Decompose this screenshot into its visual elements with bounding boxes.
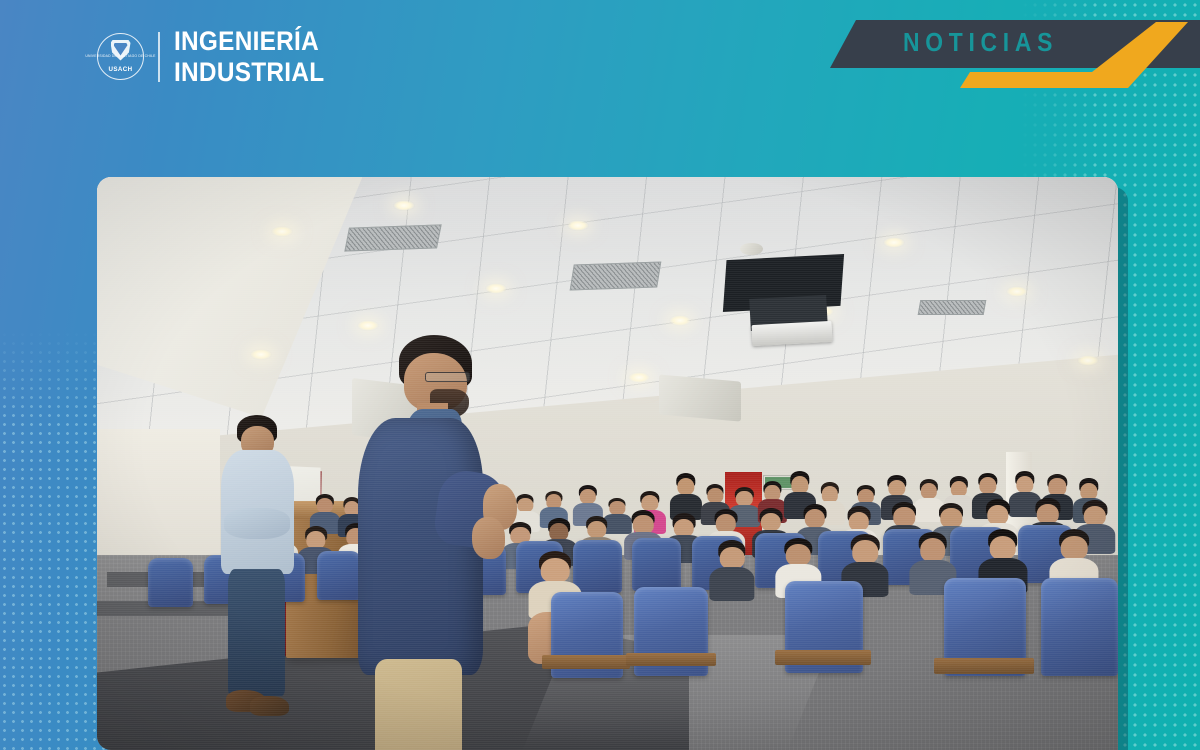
brand-lockup: UNIVERSIDAD DE SANTIAGO DE CHILE USACH I… — [97, 28, 337, 85]
seat-armrest — [626, 653, 716, 667]
ceiling-spotlight — [1077, 355, 1099, 366]
ceiling-spotlight — [1006, 286, 1028, 297]
presenter-hand — [472, 517, 505, 559]
ceiling-spotlight — [250, 349, 272, 360]
standing-man-jeans — [228, 569, 285, 696]
audience-person — [720, 547, 745, 599]
auditorium-seat — [632, 538, 681, 591]
brand-divider — [158, 32, 160, 82]
news-photo-card[interactable] — [97, 177, 1118, 750]
ceiling-spotlight — [393, 200, 415, 211]
usach-seal-icon: UNIVERSIDAD DE SANTIAGO DE CHILE USACH — [97, 33, 144, 80]
news-banner-label: NOTICIAS — [903, 27, 1058, 58]
ceiling-air-vent — [918, 300, 987, 315]
presenter-speaking — [347, 335, 521, 750]
seat-armrest — [542, 655, 630, 669]
standing-man-left — [211, 415, 303, 724]
audience-person — [1016, 476, 1033, 515]
audience-person — [921, 483, 937, 520]
ceiling-speaker — [659, 374, 741, 421]
presenter-jacket — [358, 418, 483, 676]
ceiling-projector — [752, 321, 833, 346]
seal-wordmark: USACH — [108, 67, 132, 73]
guest-glasses-icon — [97, 177, 99, 179]
ceiling-air-vent — [344, 224, 441, 251]
presenter-trousers — [375, 659, 462, 750]
brand-line-ingenieria: INGENIERÍA — [174, 28, 324, 55]
seat-armrest — [934, 658, 1034, 674]
standing-man-arms-crossed — [224, 508, 290, 539]
auditorium-seat — [573, 540, 622, 593]
presenter-glasses-icon — [425, 372, 470, 382]
seat-armrest — [775, 650, 871, 665]
seal-arc-text: UNIVERSIDAD DE SANTIAGO DE CHILE — [85, 54, 155, 58]
audience-person — [610, 501, 625, 532]
ceiling-spotlight — [669, 315, 691, 326]
news-banner: NOTICIAS — [830, 20, 1200, 88]
ceiling-spotlight — [271, 226, 293, 237]
ceiling-spotlight — [567, 220, 589, 231]
audience-person — [920, 538, 946, 592]
ceiling-spotlight — [485, 283, 507, 294]
auditorium-seat — [148, 558, 193, 607]
brand-text: INGENIERÍA INDUSTRIAL — [174, 28, 337, 85]
audience-person — [736, 491, 752, 525]
brand-line-industrial: INDUSTRIAL — [174, 59, 324, 86]
standing-man-shoe — [250, 696, 289, 716]
ceiling-air-vent — [569, 261, 660, 290]
audience-person — [677, 478, 694, 518]
auditorium-photo — [97, 177, 1118, 750]
ceiling-spotlight — [628, 372, 650, 383]
auditorium-seat-front — [1041, 578, 1118, 675]
